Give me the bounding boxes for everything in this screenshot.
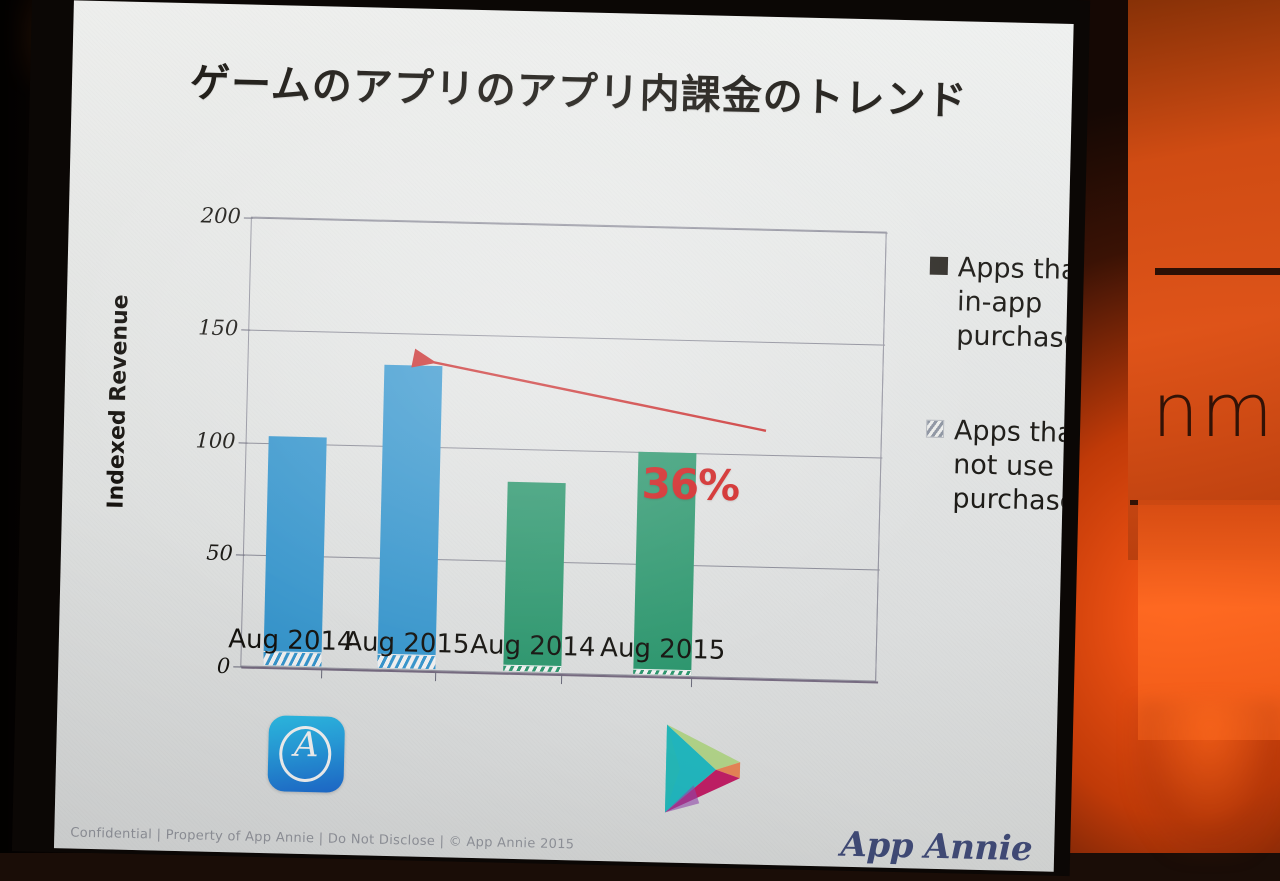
venue-wall-panel [1128,0,1280,560]
chart-legend: Apps that use in-app purchases Apps that… [923,251,1074,583]
page-title: ゲームのアプリのアプリ内課金のトレンド [190,61,971,123]
venue-wall-trim [1155,268,1280,275]
legend-label-iap: Apps that use in-app purchases [956,251,1074,357]
legend-item-iap[interactable]: Apps that use in-app purchases [928,251,1074,358]
venue-wall-signage-text: nmo [1152,368,1280,454]
legend-item-no-iap[interactable]: Apps that do not use in-app purchases [924,414,1074,521]
callout-arrow-icon [119,152,1022,733]
projection-screen-assembly: ゲームのアプリのアプリ内課金のトレンド Indexed Revenue 200 … [12,0,1112,881]
app-annie-logo: App Annie [840,825,1033,870]
projected-slide: ゲームのアプリのアプリ内課金のトレンド Indexed Revenue 200 … [54,0,1074,871]
app-store-icon: A [267,715,345,793]
legend-label-no-iap: Apps that do not use in-app purchases [952,414,1074,520]
legend-hatched-square-icon [926,420,944,438]
legend-solid-square-icon [930,257,948,275]
chart-area: Indexed Revenue 200 150 100 50 0 [119,152,1022,733]
floor-light-glow [1130,700,1280,860]
slide-footer: Confidential | Property of App Annie | D… [70,826,574,853]
google-play-icon [659,720,747,818]
app-store-glyph: A [268,724,345,766]
